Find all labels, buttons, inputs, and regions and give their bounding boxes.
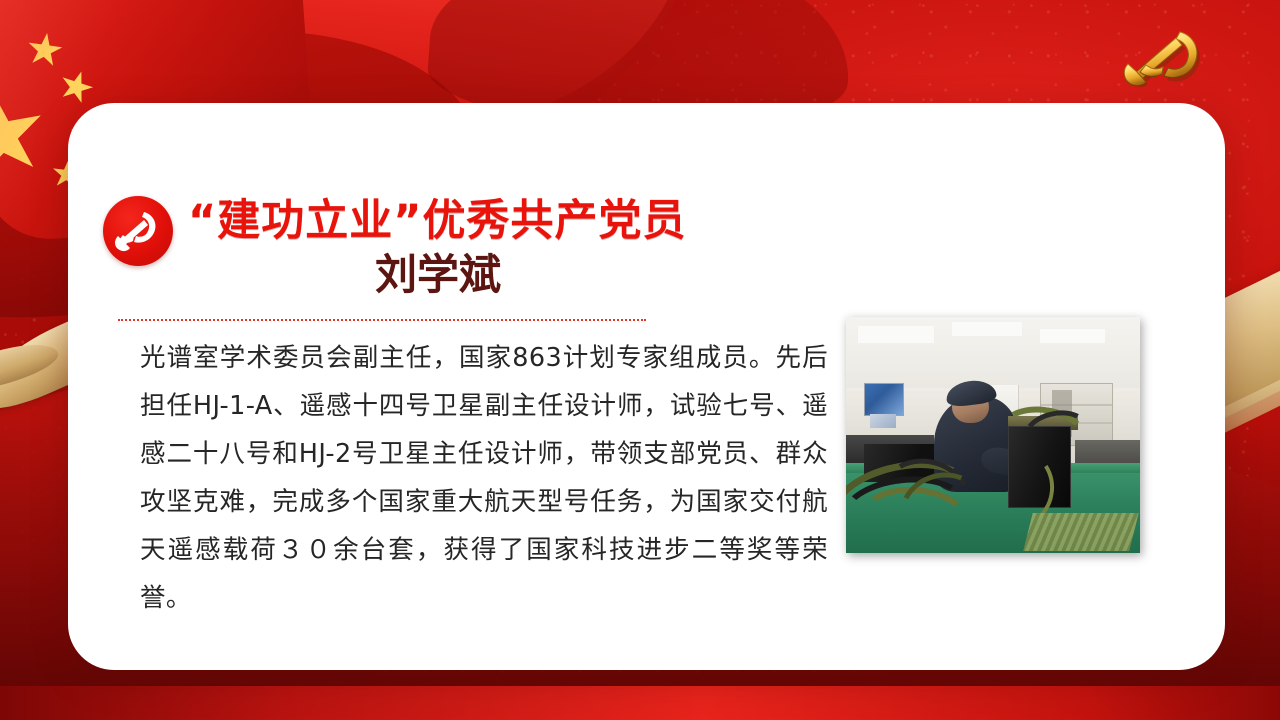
content-card: “建功立业”优秀共产党员 刘学斌 光谱室学术委员会副主任，国家863计划专家组成… [68, 103, 1225, 670]
title-block: “建功立业”优秀共产党员 刘学斌 [188, 195, 848, 301]
slide-root: “建功立业”优秀共产党员 刘学斌 光谱室学术委员会副主任，国家863计划专家组成… [0, 0, 1280, 720]
background-bottom-strip [0, 686, 1280, 720]
engineer-lab-photo [846, 317, 1140, 553]
photo-content [846, 317, 1140, 553]
biography-text: 光谱室学术委员会副主任，国家863计划专家组成员。先后担任HJ-1-A、遥感十四… [140, 334, 828, 622]
gold-party-emblem-icon [1118, 24, 1222, 92]
party-emblem-icon [103, 196, 173, 266]
dotted-divider [118, 319, 646, 321]
person-name: 刘学斌 [188, 249, 848, 300]
page-title: “建功立业”优秀共产党员 [188, 195, 848, 247]
photo-lighting-overlay [846, 317, 1140, 553]
